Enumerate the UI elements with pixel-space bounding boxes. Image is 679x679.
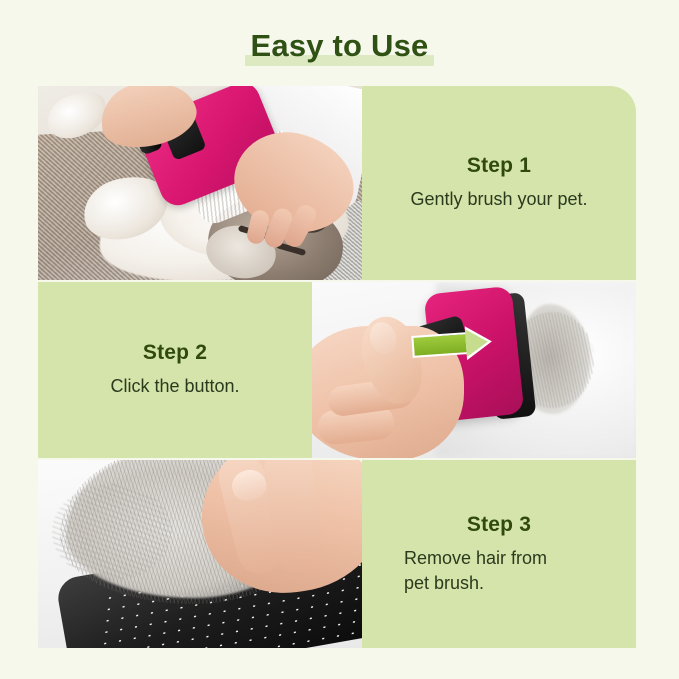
step-3-description-line-2: pet brush. — [404, 573, 484, 593]
page-title-container: Easy to Use — [0, 26, 679, 68]
step-row-1: Step 1 Gently brush your pet. — [38, 86, 636, 280]
step-2-photo — [312, 282, 636, 458]
fur-wisps — [52, 484, 172, 580]
step-2-text-panel: Step 2 Click the button. — [38, 282, 312, 458]
step-2-description: Click the button. — [110, 374, 239, 399]
step-3-description: Remove hair from pet brush. — [404, 546, 547, 596]
step-1-photo — [38, 86, 362, 280]
step-1-text-panel: Step 1 Gently brush your pet. — [362, 86, 636, 280]
step-3-photo — [38, 460, 362, 648]
step-1-heading: Step 1 — [467, 154, 531, 178]
step-3-description-line-1: Remove hair from — [404, 548, 547, 568]
page-title: Easy to Use — [245, 26, 435, 68]
step-row-3: Step 3 Remove hair from pet brush. — [38, 460, 636, 648]
step-3-heading: Step 3 — [467, 513, 531, 537]
step-3-text-panel: Step 3 Remove hair from pet brush. — [362, 460, 636, 648]
arrow-shaft — [411, 332, 468, 358]
arrow-tip — [465, 328, 489, 357]
page-title-text: Easy to Use — [251, 28, 429, 63]
step-1-description: Gently brush your pet. — [410, 187, 587, 212]
step-row-2: Step 2 Click the button. — [38, 282, 636, 458]
green-direction-arrow-icon — [411, 332, 468, 358]
step-2-heading: Step 2 — [143, 341, 207, 365]
